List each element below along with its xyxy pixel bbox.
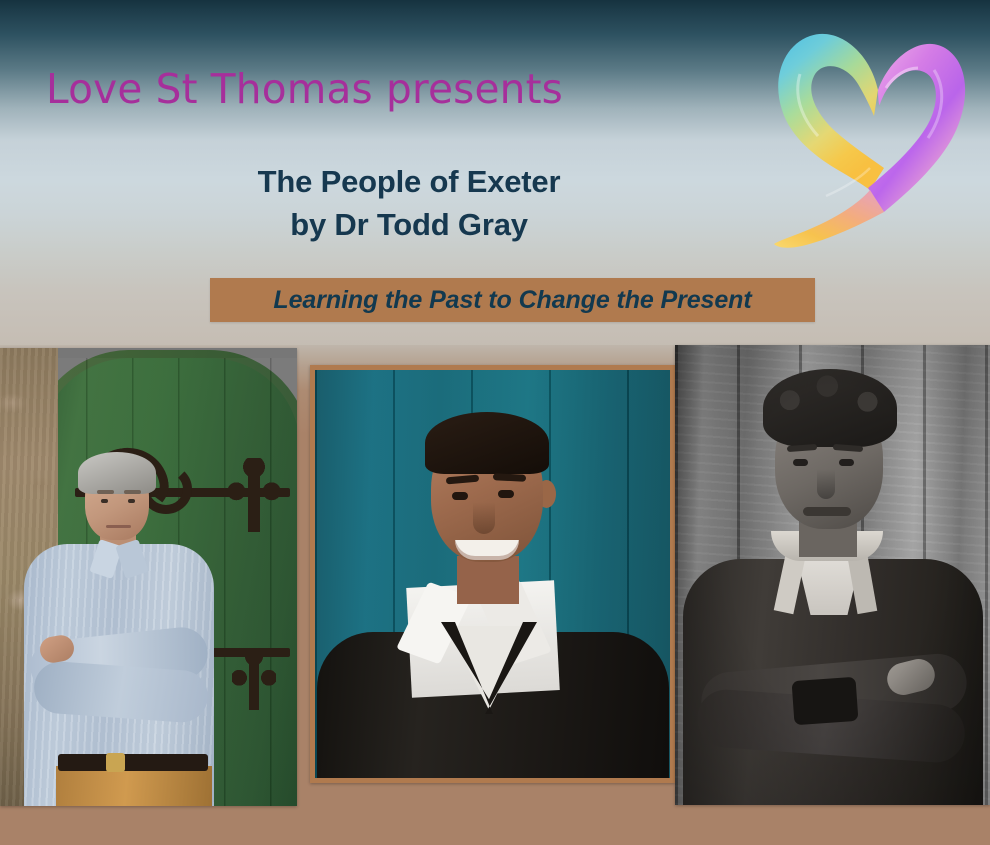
- man-belt-buckle: [106, 753, 125, 772]
- tagline-text: Learning the Past to Change the Present: [273, 286, 751, 314]
- man-mouth: [106, 525, 131, 528]
- man-trousers: [56, 766, 212, 806]
- photo-todd-gray: [0, 348, 297, 806]
- ironwork-fleur-upper: [228, 458, 280, 532]
- man-eye-right: [128, 499, 135, 503]
- man-eye-left: [101, 499, 108, 503]
- title-line-1: The People of Exeter: [0, 160, 818, 203]
- portrait-neck: [457, 556, 519, 604]
- photo-speaker-content: [315, 370, 670, 778]
- poster-title: The People of Exeter by Dr Todd Gray: [0, 160, 818, 246]
- man-eyebrow-right: [124, 490, 141, 494]
- portrait-hair: [425, 412, 549, 474]
- man-hair: [78, 452, 156, 494]
- ironwork-fleur-lower: [232, 648, 276, 710]
- photo-vignette: [675, 345, 990, 805]
- photo-todd-gray-content: [0, 348, 297, 806]
- portrait-eye-right: [498, 490, 514, 498]
- portrait-nose: [473, 502, 495, 534]
- portrait-smile: [455, 540, 519, 560]
- organisation-line: Love St Thomas presents: [46, 68, 563, 111]
- poster-canvas: Love St Thomas presents The People of Ex…: [0, 0, 990, 845]
- man-belt: [58, 754, 208, 771]
- photo-speaker-portrait: [310, 365, 675, 783]
- title-line-2: by Dr Todd Gray: [0, 203, 818, 246]
- man-eyebrow-left: [97, 490, 114, 494]
- portrait-eye-left: [452, 492, 468, 500]
- photo-historical-portrait: [675, 345, 990, 805]
- tagline-banner: Learning the Past to Change the Present: [210, 278, 815, 322]
- photo-historical-content: [675, 345, 990, 805]
